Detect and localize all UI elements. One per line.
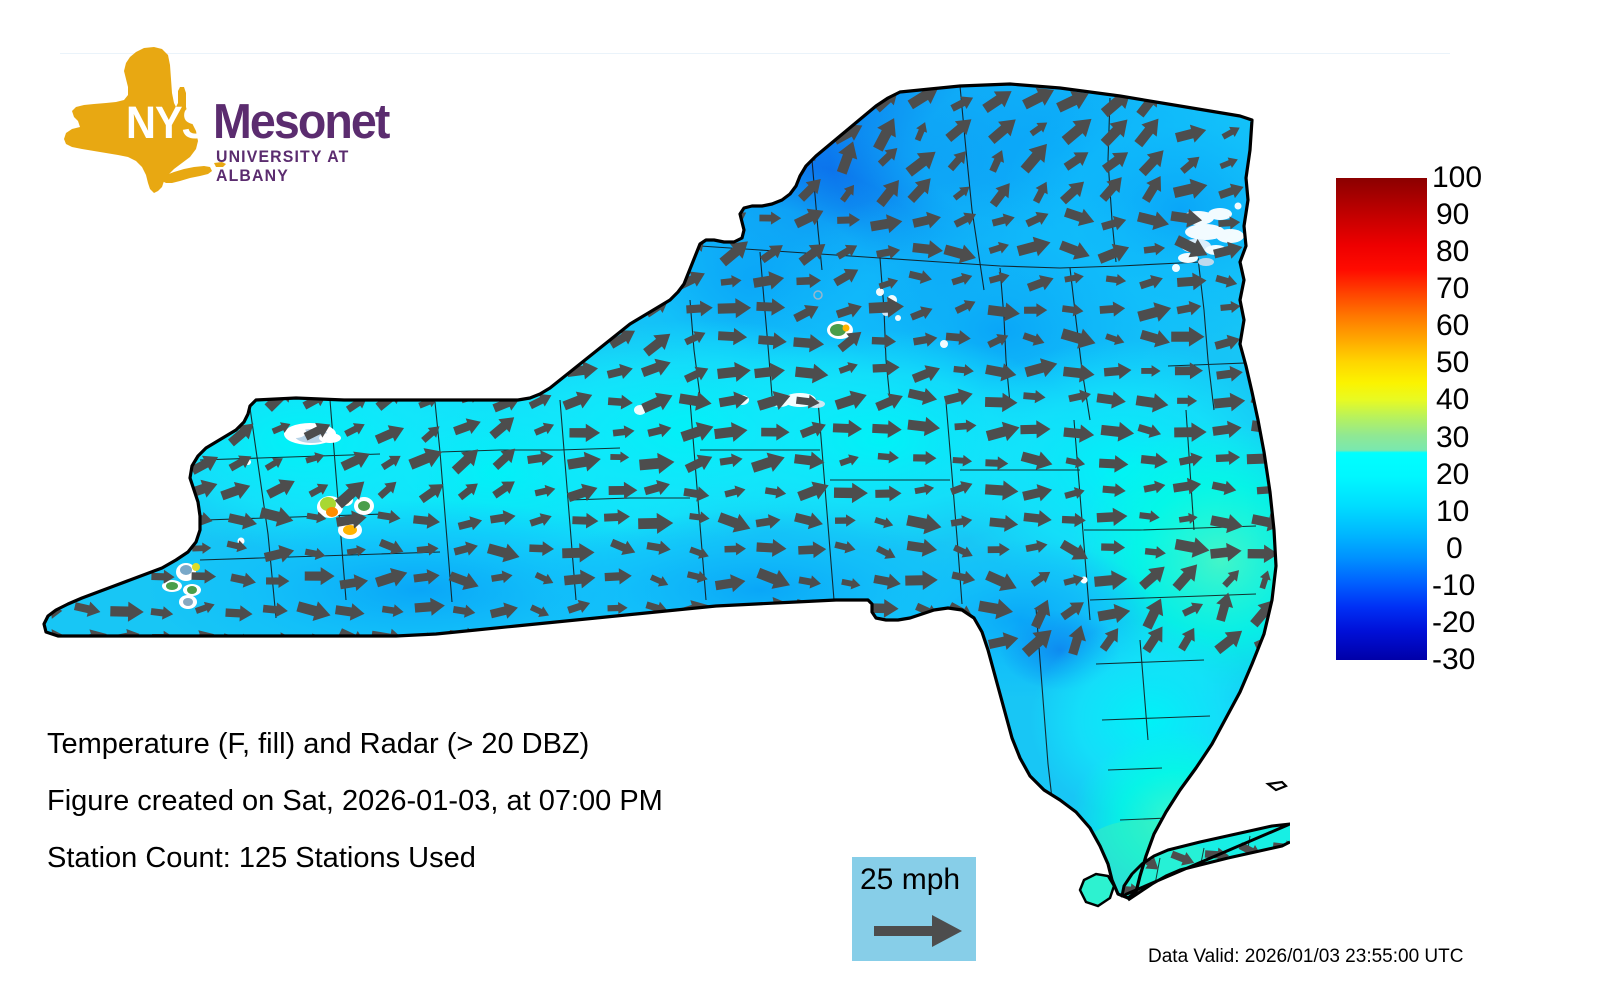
wind-arrow bbox=[1252, 148, 1284, 177]
wind-arrow bbox=[148, 363, 172, 383]
wind-arrow bbox=[302, 354, 333, 382]
wind-arrow bbox=[488, 141, 519, 174]
wind-arrow bbox=[226, 323, 253, 350]
wind-arrow bbox=[756, 622, 793, 651]
wind-arrow bbox=[638, 200, 677, 237]
wind-arrow bbox=[117, 144, 141, 175]
wind-arrow bbox=[1250, 123, 1276, 142]
wind-arrow bbox=[1255, 212, 1283, 229]
wind-arrow bbox=[225, 140, 252, 173]
wind-arrow bbox=[487, 263, 524, 296]
wind-arrow bbox=[568, 332, 591, 350]
wind-arrow bbox=[605, 171, 633, 206]
wind-arrow bbox=[117, 175, 137, 206]
wind-arrow bbox=[604, 259, 642, 296]
long-island-small-isle bbox=[1268, 782, 1286, 790]
wind-arrow bbox=[188, 390, 213, 412]
wind-arrow bbox=[113, 477, 137, 496]
wind-arrow bbox=[715, 138, 753, 178]
wind-arrow bbox=[529, 235, 559, 266]
wind-arrow bbox=[152, 271, 171, 293]
wind-arrow bbox=[533, 144, 555, 169]
wind-arrow bbox=[338, 144, 368, 179]
wind-arrow bbox=[256, 230, 297, 265]
wind-arrow bbox=[451, 204, 484, 238]
wind-arrow bbox=[29, 231, 64, 270]
wind-arrow bbox=[190, 88, 210, 113]
wind-arrow bbox=[763, 84, 787, 110]
wind-arrow bbox=[646, 175, 670, 208]
wind-arrow bbox=[34, 442, 73, 477]
wind-arrow bbox=[728, 119, 747, 143]
wind-arrow bbox=[300, 207, 330, 237]
wind-arrow bbox=[111, 236, 142, 267]
wind-arrow bbox=[226, 270, 247, 298]
wind-arrow bbox=[528, 326, 562, 354]
wind-arrow bbox=[147, 473, 180, 499]
wind-arrow bbox=[562, 236, 598, 264]
wind-arrow bbox=[39, 77, 69, 115]
wind-arrow bbox=[415, 84, 440, 110]
caption-station-count: Station Count: 125 Stations Used bbox=[47, 830, 767, 887]
wind-arrow bbox=[525, 176, 555, 211]
wind-arrow bbox=[148, 112, 172, 146]
wind-arrow bbox=[345, 209, 365, 234]
colorbar-tick-100: 100 bbox=[1432, 163, 1542, 193]
wind-arrow bbox=[569, 144, 590, 176]
wind-arrow bbox=[571, 211, 598, 235]
wind-arrow bbox=[192, 208, 214, 228]
caption-block: Temperature (F, fill) and Radar (> 20 DB… bbox=[47, 716, 767, 887]
wind-arrow bbox=[722, 88, 740, 110]
wind-arrow bbox=[802, 120, 823, 145]
wind-arrow bbox=[113, 356, 135, 378]
wind-arrow bbox=[945, 631, 971, 648]
wind-arrow bbox=[383, 331, 402, 353]
wind-arrow bbox=[532, 118, 553, 149]
wind-arrow bbox=[455, 290, 481, 325]
wind-arrow bbox=[571, 116, 590, 141]
wind-arrow bbox=[494, 359, 517, 377]
wind-arrow bbox=[145, 293, 184, 329]
wind-arrow bbox=[305, 147, 320, 170]
wind-arrow bbox=[32, 353, 67, 380]
wind-arrow bbox=[37, 422, 61, 444]
wind-arrow bbox=[29, 533, 67, 564]
wind-arrow bbox=[302, 79, 323, 113]
wind-arrow bbox=[149, 446, 177, 469]
wind-arrow bbox=[82, 115, 102, 145]
wind-arrow bbox=[158, 323, 178, 352]
wind-arrow bbox=[71, 417, 104, 447]
wind-arrow bbox=[69, 539, 106, 568]
wind-arrow bbox=[38, 172, 64, 210]
wind-arrow bbox=[722, 636, 744, 652]
wind-arrow bbox=[679, 630, 714, 652]
wind-arrow bbox=[266, 87, 292, 116]
wind-arrow bbox=[230, 176, 250, 207]
wind-arrow bbox=[309, 113, 329, 138]
wind-arrow bbox=[74, 265, 107, 296]
wind-arrow bbox=[190, 240, 218, 264]
wind-arrow bbox=[652, 120, 671, 144]
wind-arrow bbox=[608, 302, 632, 322]
wind-arrow bbox=[342, 297, 361, 323]
wind-arrow bbox=[410, 358, 449, 388]
wind-arrow bbox=[1262, 865, 1286, 880]
wind-arrow bbox=[159, 210, 174, 231]
wind-arrow bbox=[225, 228, 260, 265]
wind-arrow bbox=[453, 110, 479, 147]
wind-arrow bbox=[152, 512, 175, 529]
wind-arrow bbox=[532, 212, 556, 233]
caption-created: Figure created on Sat, 2026-01-03, at 07… bbox=[47, 773, 767, 830]
wind-arrow bbox=[110, 267, 137, 301]
wind-arrow bbox=[114, 299, 132, 323]
wind-arrow bbox=[642, 240, 678, 267]
wind-arrow bbox=[154, 237, 175, 269]
staten-island-outline bbox=[1080, 874, 1114, 906]
wind-arrow bbox=[191, 121, 206, 145]
wind-arrow bbox=[383, 147, 403, 171]
wind-arrow bbox=[1259, 245, 1281, 262]
wind-scale-arrow-icon bbox=[874, 911, 964, 951]
wind-arrow bbox=[345, 240, 364, 265]
wind-arrow bbox=[109, 328, 136, 354]
wind-arrow bbox=[381, 206, 411, 239]
wind-arrow bbox=[73, 390, 104, 416]
wind-arrow bbox=[76, 240, 99, 263]
wind-arrow bbox=[760, 146, 785, 175]
wind-arrow bbox=[917, 629, 938, 645]
wind-arrow bbox=[158, 148, 178, 176]
wind-arrow bbox=[1256, 360, 1283, 379]
wind-arrow bbox=[420, 113, 445, 143]
wind-arrow bbox=[420, 146, 443, 170]
colorbar-tick-40: 40 bbox=[1432, 385, 1546, 415]
wind-arrow bbox=[338, 352, 377, 389]
wind-arrow bbox=[114, 116, 134, 147]
wind-arrow bbox=[534, 91, 549, 114]
colorbar-gradient bbox=[1336, 178, 1427, 660]
wind-arrow bbox=[80, 574, 103, 589]
wind-arrow bbox=[378, 262, 411, 296]
wind-arrow bbox=[150, 416, 174, 439]
wind-arrow bbox=[832, 600, 858, 618]
wind-arrow bbox=[84, 152, 98, 174]
wind-arrow bbox=[1225, 866, 1251, 888]
wind-arrow bbox=[109, 198, 141, 236]
wind-arrow bbox=[375, 291, 411, 322]
wind-arrow bbox=[1190, 874, 1213, 889]
colorbar-tick-20: 20 bbox=[1432, 460, 1546, 490]
wind-arrow bbox=[229, 118, 254, 147]
wind-arrow bbox=[308, 327, 331, 346]
wind-scale-legend: 25 mph bbox=[852, 857, 976, 961]
wind-arrow bbox=[611, 86, 636, 112]
wind-arrow bbox=[193, 326, 213, 356]
wind-arrow bbox=[447, 347, 486, 385]
wind-arrow bbox=[234, 299, 249, 322]
wind-arrow bbox=[639, 264, 676, 297]
wind-arrow bbox=[569, 633, 590, 645]
colorbar-tick-70: 70 bbox=[1432, 274, 1546, 304]
wind-arrow bbox=[31, 478, 62, 504]
wind-arrow bbox=[188, 422, 213, 441]
wind-arrow bbox=[144, 82, 177, 122]
wind-arrow bbox=[347, 332, 361, 353]
wind-arrow bbox=[463, 269, 478, 291]
wind-arrow bbox=[682, 86, 704, 113]
wind-arrow bbox=[112, 386, 134, 406]
wind-arrow bbox=[607, 636, 629, 650]
wind-arrow bbox=[115, 451, 143, 476]
wind-arrow bbox=[643, 626, 672, 648]
wind-arrow bbox=[646, 150, 663, 172]
wind-arrow bbox=[111, 537, 148, 567]
wind-arrow bbox=[830, 79, 861, 116]
wind-arrow bbox=[151, 540, 180, 561]
colorbar-tick-neg30: -30 bbox=[1432, 645, 1542, 675]
wind-arrow bbox=[80, 329, 101, 359]
wind-arrow bbox=[379, 235, 407, 270]
colorbar-tick-labels: 1009080706050403020100-10-20-30 bbox=[1432, 166, 1552, 676]
wind-arrow bbox=[567, 171, 604, 208]
wind-arrow bbox=[264, 201, 291, 238]
wind-arrow bbox=[490, 327, 520, 356]
wind-arrow bbox=[257, 257, 294, 296]
wind-arrow bbox=[1248, 290, 1288, 324]
wind-arrow bbox=[493, 298, 524, 329]
wind-arrow bbox=[271, 121, 291, 144]
wind-arrow bbox=[1248, 87, 1287, 117]
wind-arrow bbox=[36, 291, 64, 327]
wind-arrow bbox=[75, 476, 99, 497]
wind-arrow bbox=[527, 270, 557, 296]
wind-arrow bbox=[32, 203, 69, 235]
wind-arrow bbox=[494, 213, 519, 233]
wind-arrow bbox=[151, 173, 173, 206]
wind-arrow bbox=[268, 360, 291, 380]
wind-arrow bbox=[495, 120, 519, 146]
wind-arrow bbox=[262, 326, 288, 357]
wind-arrow bbox=[723, 174, 745, 199]
wind-arrow bbox=[345, 81, 367, 116]
wind-arrow bbox=[870, 630, 895, 647]
wind-arrow bbox=[379, 118, 400, 148]
wind-arrow bbox=[828, 626, 866, 657]
wind-arrow bbox=[37, 574, 63, 590]
wind-arrow bbox=[36, 111, 62, 144]
wind-arrow bbox=[415, 295, 442, 323]
wind-arrow bbox=[459, 89, 481, 114]
colorbar-tick-0: 0 bbox=[1432, 534, 1556, 564]
colorbar-tick-neg20: -20 bbox=[1432, 608, 1542, 638]
wind-arrow bbox=[453, 144, 484, 181]
wind-arrow bbox=[305, 296, 330, 326]
wind-arrow bbox=[296, 257, 330, 297]
wind-arrow bbox=[609, 117, 626, 138]
wind-arrow bbox=[117, 419, 142, 438]
wind-arrow bbox=[183, 266, 214, 302]
wind-arrow bbox=[683, 172, 712, 207]
colorbar-tick-80: 80 bbox=[1432, 237, 1546, 267]
colorbar-tick-50: 50 bbox=[1432, 348, 1546, 378]
wind-arrow bbox=[340, 260, 367, 291]
wind-arrow bbox=[79, 517, 99, 529]
wind-arrow bbox=[491, 239, 528, 266]
wind-arrow bbox=[112, 85, 135, 121]
temperature-colorbar bbox=[1336, 178, 1427, 660]
wind-arrow bbox=[193, 356, 217, 379]
wind-arrow bbox=[418, 176, 446, 210]
wind-arrow bbox=[343, 172, 370, 204]
colorbar-tick-60: 60 bbox=[1432, 311, 1546, 341]
wind-arrow bbox=[111, 513, 140, 534]
wind-arrow bbox=[379, 85, 406, 115]
wind-arrow bbox=[409, 320, 444, 353]
caption-title: Temperature (F, fill) and Radar (> 20 DB… bbox=[47, 716, 767, 773]
wind-arrow bbox=[312, 183, 326, 204]
wind-arrow bbox=[74, 80, 94, 113]
wind-arrow bbox=[576, 88, 589, 108]
wind-arrow bbox=[230, 82, 255, 116]
wind-arrow bbox=[528, 623, 565, 651]
wind-arrow bbox=[148, 386, 181, 416]
wind-arrow bbox=[31, 258, 64, 295]
wind-arrow bbox=[684, 145, 702, 169]
wind-arrow bbox=[33, 506, 66, 532]
wind-arrow bbox=[305, 235, 328, 270]
wind-arrow bbox=[73, 362, 98, 384]
wind-arrow bbox=[384, 180, 406, 203]
wind-arrow bbox=[265, 174, 288, 210]
colorbar-tick-neg10: -10 bbox=[1432, 571, 1542, 601]
wind-arrow bbox=[489, 630, 521, 653]
wind-arrow bbox=[801, 92, 821, 114]
wind-arrow bbox=[194, 148, 208, 171]
wind-arrow bbox=[763, 120, 783, 146]
wind-arrow bbox=[230, 203, 249, 232]
wind-arrow bbox=[643, 84, 669, 112]
wind-arrow bbox=[81, 176, 93, 196]
wind-arrow bbox=[221, 355, 258, 389]
wind-arrow bbox=[34, 385, 59, 409]
wind-arrow bbox=[524, 358, 556, 382]
wind-arrow bbox=[68, 444, 105, 472]
wind-arrow bbox=[1254, 329, 1277, 349]
wind-arrow bbox=[378, 358, 413, 385]
wind-arrow bbox=[78, 294, 96, 318]
wind-arrow bbox=[415, 203, 439, 232]
wind-arrow bbox=[36, 329, 62, 357]
wind-arrow bbox=[610, 238, 635, 258]
wind-arrow bbox=[568, 271, 592, 289]
wind-arrow bbox=[607, 207, 634, 233]
wind-arrow bbox=[1246, 268, 1283, 293]
wind-arrow bbox=[678, 203, 708, 230]
wind-arrow bbox=[421, 264, 439, 289]
wind-arrow bbox=[67, 205, 107, 239]
wind-arrow bbox=[345, 117, 365, 145]
wind-arrow bbox=[198, 177, 215, 203]
wind-arrow bbox=[189, 301, 219, 326]
wind-arrow bbox=[685, 116, 706, 142]
wind-arrow bbox=[558, 288, 598, 325]
wind-arrow bbox=[36, 144, 57, 176]
wind-arrow bbox=[450, 236, 482, 267]
wind-arrow bbox=[270, 297, 294, 323]
wind-arrow bbox=[454, 174, 489, 213]
wind-arrow bbox=[498, 170, 519, 205]
colorbar-tick-10: 10 bbox=[1432, 497, 1546, 527]
colorbar-tick-90: 90 bbox=[1432, 200, 1546, 230]
data-valid-timestamp: Data Valid: 2026/01/03 23:55:00 UTC bbox=[1148, 946, 1463, 968]
wind-arrow bbox=[798, 630, 820, 648]
wind-arrow bbox=[455, 325, 479, 350]
wind-arrow bbox=[265, 148, 285, 177]
wind-arrow bbox=[531, 303, 558, 322]
colorbar-tick-30: 30 bbox=[1432, 423, 1546, 453]
wind-scale-label: 25 mph bbox=[860, 860, 960, 900]
wind-arrow bbox=[1247, 174, 1280, 201]
wind-arrow bbox=[493, 90, 513, 113]
wind-arrow bbox=[607, 139, 631, 175]
wind-arrow bbox=[413, 234, 443, 264]
